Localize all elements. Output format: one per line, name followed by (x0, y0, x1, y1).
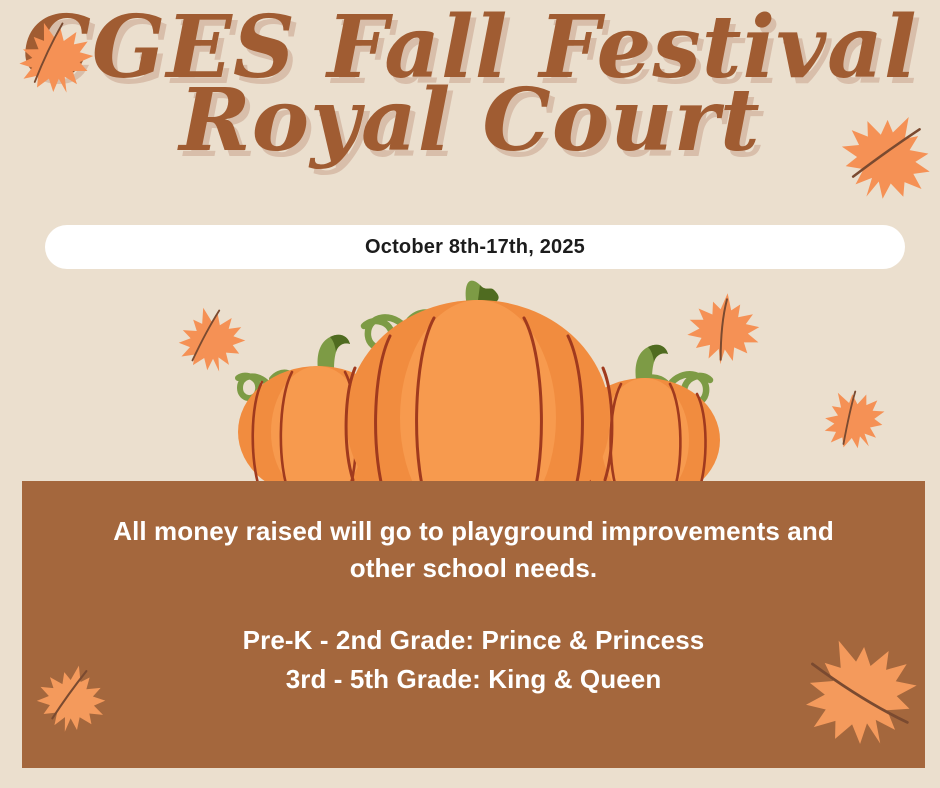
leaf-mid-left-icon (171, 299, 251, 380)
vine-left-icon (238, 373, 294, 399)
pumpkin-right-icon (570, 345, 720, 502)
vine-right-icon (642, 374, 710, 403)
poster-title: CGES Fall Festival Royal Court (0, 8, 940, 160)
message-line-1: All money raised will go to playground i… (60, 513, 887, 550)
leaf-mid-right-icon (685, 289, 764, 368)
fall-festival-poster: CGES Fall Festival Royal Court October 8… (0, 0, 940, 788)
grade-line-1: Pre-K - 2nd Grade: Prince & Princess (60, 621, 887, 660)
panel-spacer (60, 587, 887, 621)
pumpkin-left-icon (238, 335, 398, 498)
panel-text-block: All money raised will go to playground i… (22, 481, 925, 699)
message-line-2: other school needs. (60, 550, 887, 587)
leaf-top-right-icon (827, 96, 940, 218)
grade-line-2: 3rd - 5th Grade: King & Queen (60, 660, 887, 699)
date-text: October 8th-17th, 2025 (365, 236, 585, 259)
vine-center-icon (364, 312, 440, 351)
leaf-top-left-icon (9, 10, 102, 104)
leaf-far-right-icon (811, 377, 896, 462)
title-line-1: CGES Fall Festival (0, 8, 940, 87)
title-line-2: Royal Court (0, 81, 940, 160)
date-banner: October 8th-17th, 2025 (45, 225, 905, 269)
message-panel: All money raised will go to playground i… (22, 481, 925, 768)
